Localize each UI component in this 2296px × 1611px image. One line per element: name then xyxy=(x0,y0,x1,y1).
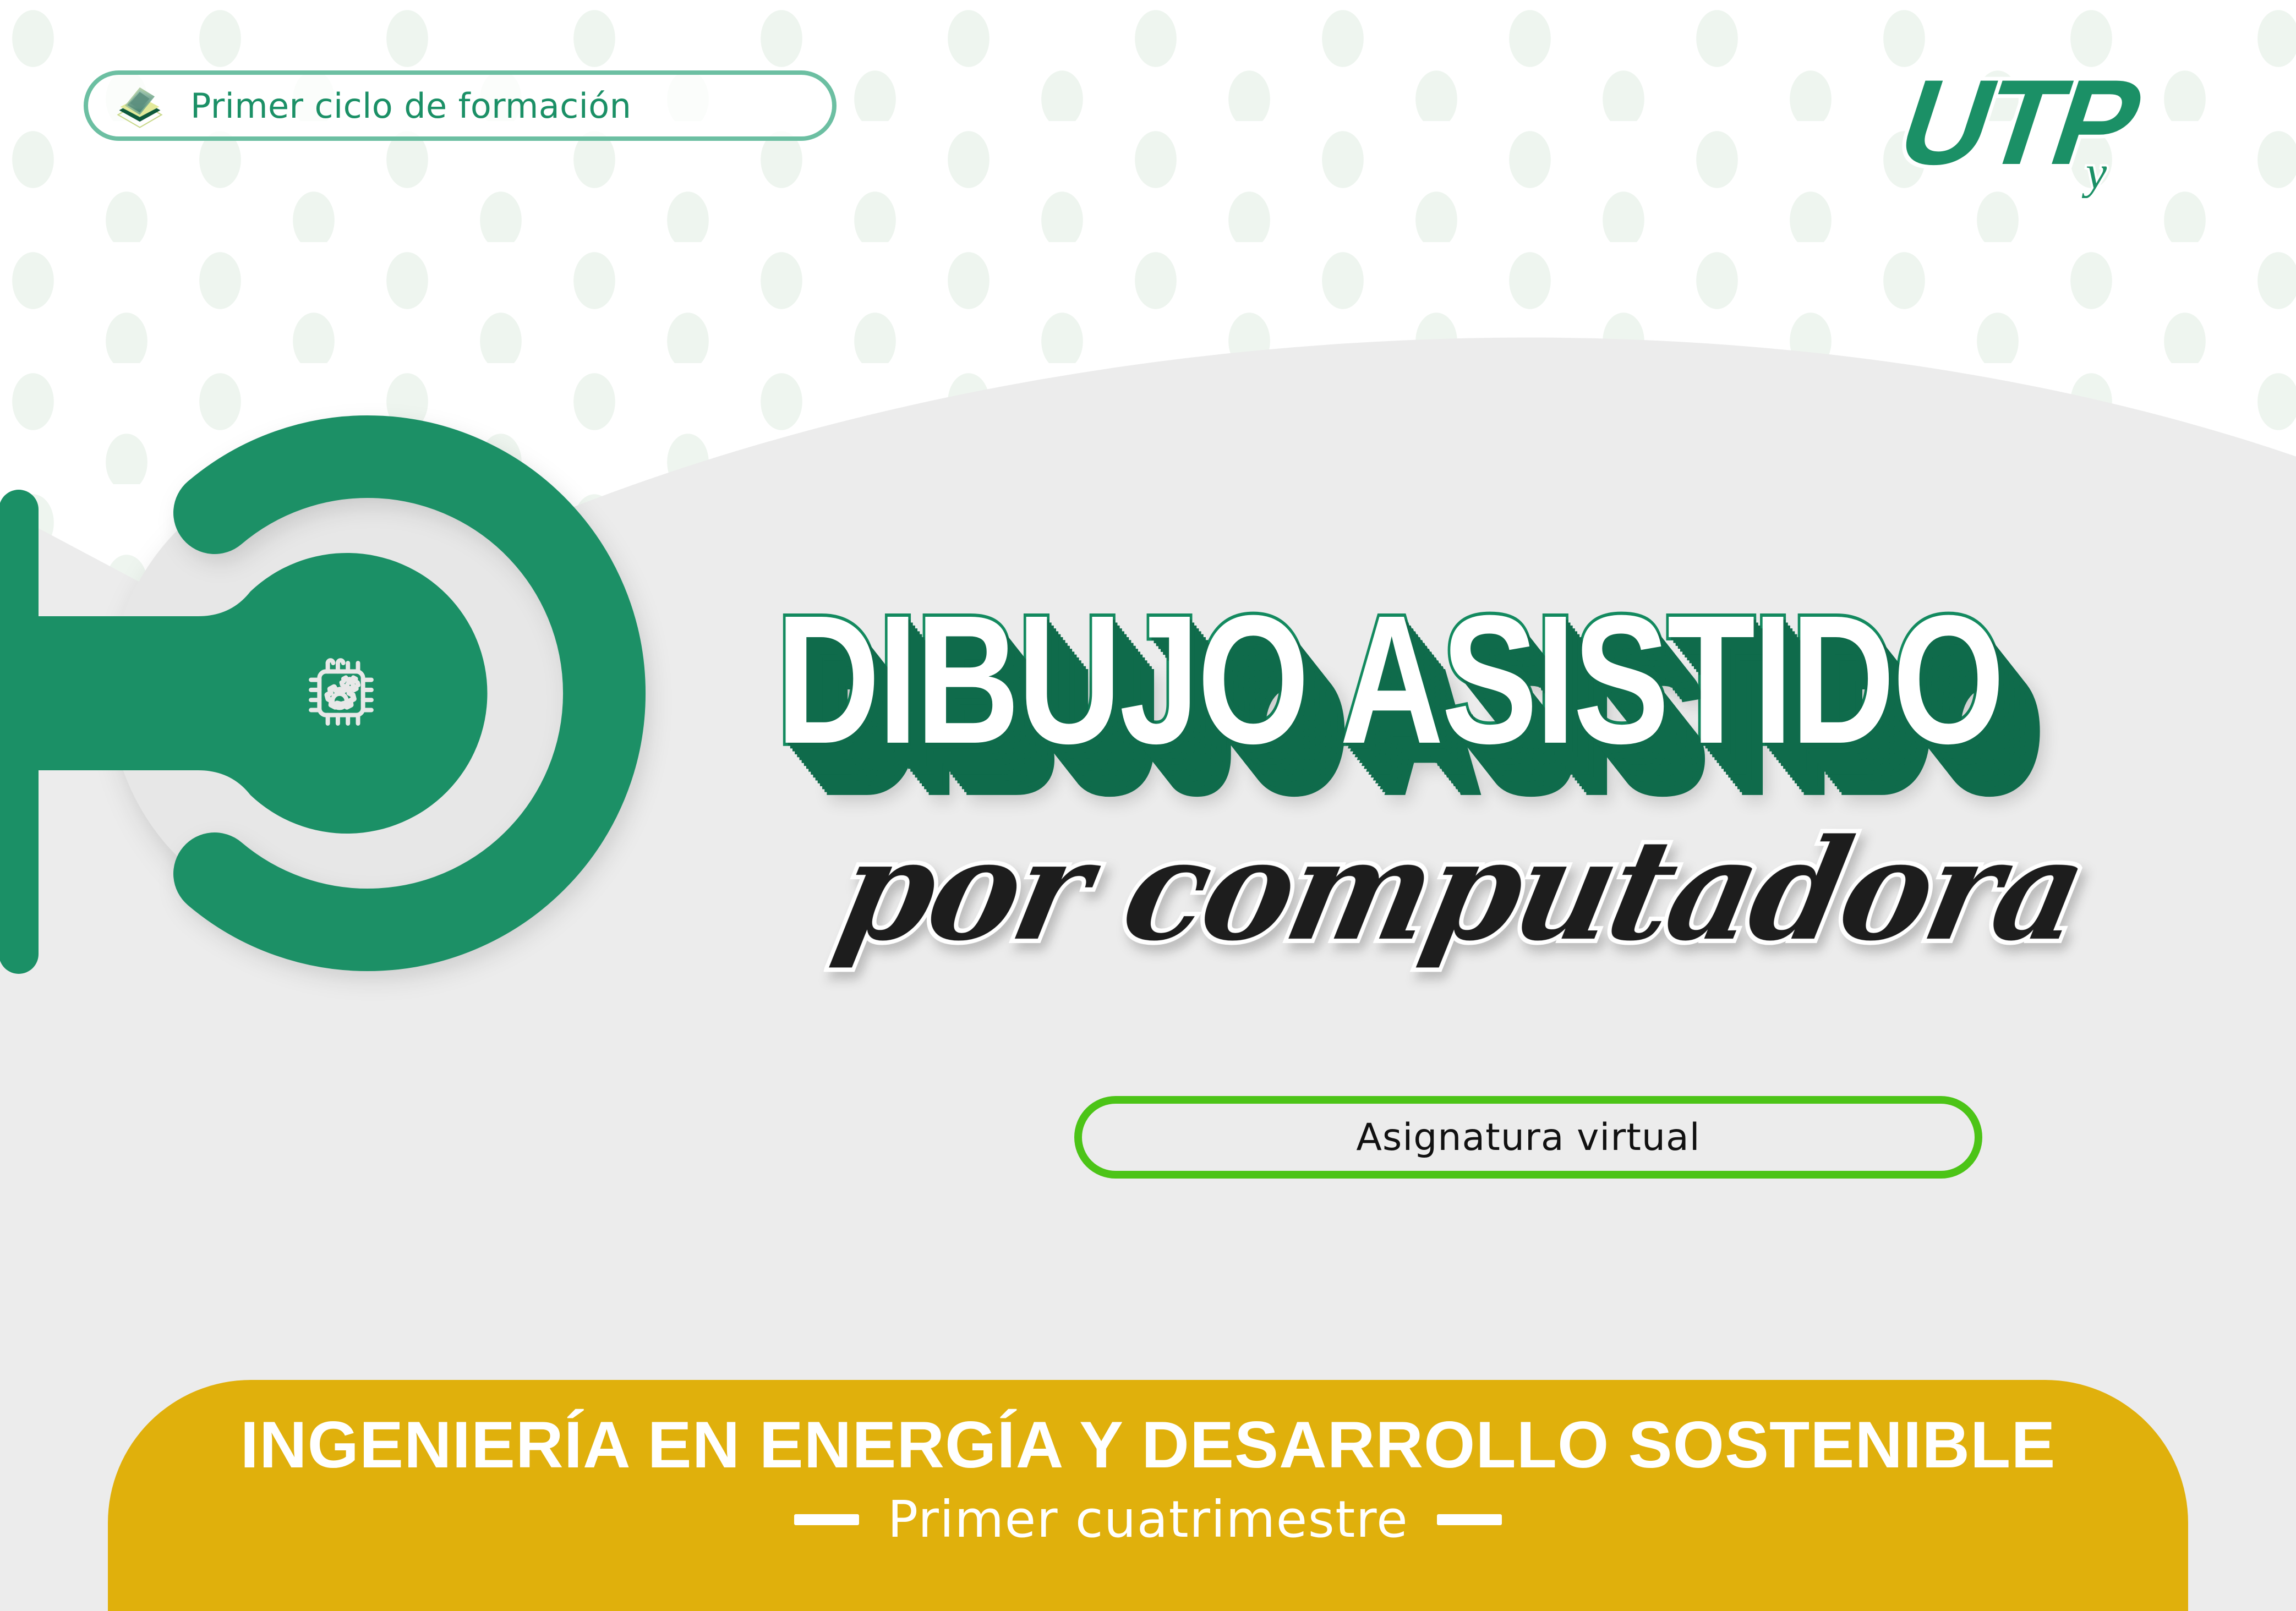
modality-badge-label: Asignatura virtual xyxy=(1356,1116,1700,1159)
cycle-badge-label: Primer ciclo de formación xyxy=(190,86,631,126)
cycle-badge[interactable]: Primer ciclo de formación xyxy=(84,70,837,141)
layers-stack-icon xyxy=(111,77,168,134)
program-name: INGENIERÍA EN ENERGÍA Y DESARROLLO SOSTE… xyxy=(240,1412,2056,1478)
dash-left-icon xyxy=(794,1514,859,1525)
page-title: DIBUJO ASISTIDO xyxy=(776,589,2296,772)
utp-logo[interactable]: UTP y xyxy=(1889,66,2230,198)
utp-logo-subletter: y xyxy=(2081,146,2107,198)
circle-graphic xyxy=(0,308,848,1078)
modality-badge[interactable]: Asignatura virtual xyxy=(1074,1096,1982,1179)
term-row: Primer cuatrimestre xyxy=(794,1494,1502,1545)
term-label: Primer cuatrimestre xyxy=(888,1494,1408,1545)
hero-title-block: DIBUJO ASISTIDO xyxy=(776,589,2262,727)
poster-canvas: Primer ciclo de formación UTP y DIBUJO A… xyxy=(0,0,2296,1611)
utp-logo-text: UTP xyxy=(1889,66,2156,190)
dash-right-icon xyxy=(1437,1514,1502,1525)
program-banner: INGENIERÍA EN ENERGÍA Y DESARROLLO SOSTE… xyxy=(108,1380,2188,1611)
page-subtitle-script: por computadora xyxy=(825,809,2097,972)
